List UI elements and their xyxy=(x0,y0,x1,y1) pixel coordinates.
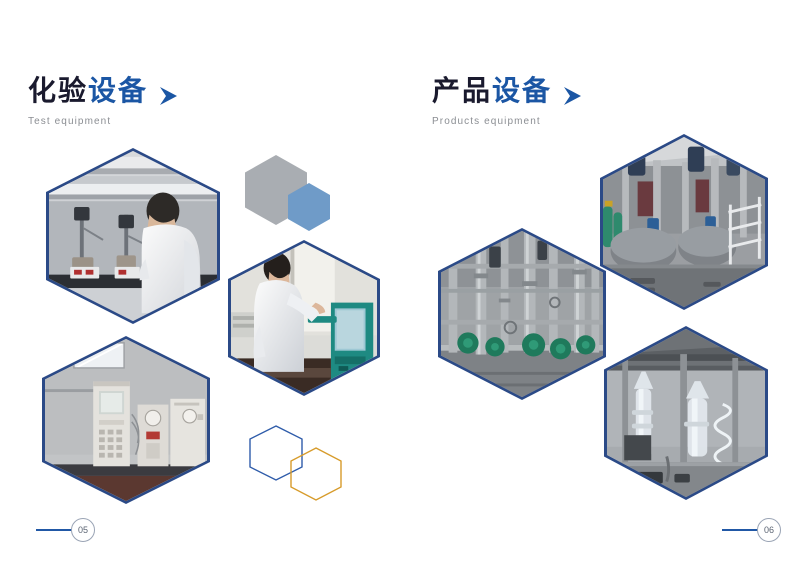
section-subtitle-products-equipment: Products equipment xyxy=(432,116,587,127)
section-title-products-equipment: 产品设备 xyxy=(432,78,587,106)
photo-hex-plant-piping-pumps xyxy=(438,228,606,400)
page-number-right: 06 xyxy=(722,518,781,542)
page-number-left: 05 xyxy=(36,518,95,542)
page-number-rule xyxy=(722,529,758,531)
photo-hex-lab-technician-oven xyxy=(228,240,380,396)
section-title-dark-part: 产品 xyxy=(432,76,492,107)
page-number-right-value: 06 xyxy=(757,518,781,542)
photo-hex-inner xyxy=(441,231,603,397)
deco-hex-outline-group xyxy=(248,425,348,503)
photo-hex-inner xyxy=(45,339,207,501)
chevron-right-icon xyxy=(157,84,183,108)
section-heading-products-equipment: 产品设备 Products equipment xyxy=(432,78,587,127)
photo-hex-gas-chromatograph xyxy=(42,336,210,504)
section-title-blue-part: 设备 xyxy=(88,76,148,107)
photo-hex-inner xyxy=(603,137,765,307)
photo-hex-plant-glass-distillation xyxy=(604,326,768,500)
photo-hex-lab-technician-fume-hood xyxy=(46,148,220,324)
brochure-spread: 化验设备 Test equipment 产品设备 Products equipm… xyxy=(0,0,800,565)
photo-hex-inner xyxy=(607,329,765,497)
photo-hex-inner xyxy=(231,243,377,393)
deco-hex-outline-orange xyxy=(291,448,341,500)
section-heading-test-equipment: 化验设备 Test equipment xyxy=(28,78,183,127)
section-title-dark-part: 化验 xyxy=(28,76,88,107)
photo-hex-plant-reactor-vessels xyxy=(600,134,768,310)
section-title-blue-part: 设备 xyxy=(492,76,552,107)
chevron-right-icon xyxy=(561,84,587,108)
section-subtitle-test-equipment: Test equipment xyxy=(28,116,183,127)
page-number-rule xyxy=(36,529,72,531)
photo-hex-inner xyxy=(49,151,217,321)
deco-hex-outline-blue xyxy=(250,426,302,480)
section-title-test-equipment: 化验设备 xyxy=(28,78,183,106)
page-number-left-value: 05 xyxy=(71,518,95,542)
